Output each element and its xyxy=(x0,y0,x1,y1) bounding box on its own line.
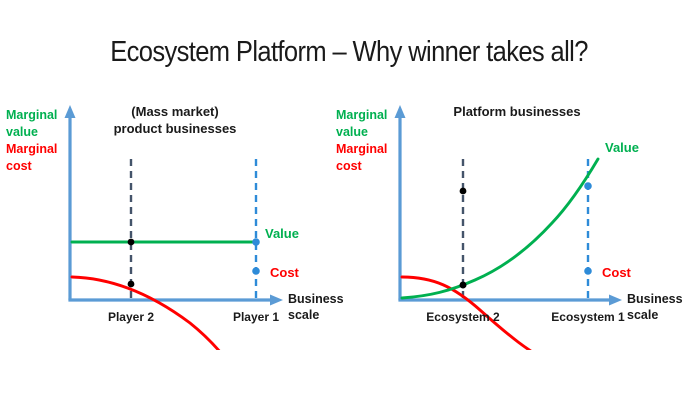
x-tick-player-2: Player 2 xyxy=(81,310,181,324)
x-axis-title-line2-right: scale xyxy=(627,307,683,323)
series-value-curve-right xyxy=(402,159,598,298)
x-axis-arrow-icon-right xyxy=(609,295,622,306)
series-label-value: Value xyxy=(265,226,299,241)
x-tick-ecosystem-2: Ecosystem 2 xyxy=(413,310,513,324)
axis-group-right xyxy=(395,105,623,306)
series-label-cost: Cost xyxy=(270,265,299,280)
axis-group xyxy=(65,105,284,306)
x-axis-title-right: Business scale xyxy=(627,291,683,323)
y-axis-arrow-icon xyxy=(65,105,76,118)
marker-value-player-2 xyxy=(128,239,135,246)
series-label-value-right: Value xyxy=(605,140,639,155)
slide-canvas: Ecosystem Platform – Why winner takes al… xyxy=(0,0,698,400)
x-axis-arrow-icon xyxy=(270,295,283,306)
marker-cost-ecosystem-2 xyxy=(460,282,467,289)
page-title: Ecosystem Platform – Why winner takes al… xyxy=(42,36,656,69)
marker-cost-player-1 xyxy=(252,267,260,275)
series-label-cost-right: Cost xyxy=(602,265,631,280)
chart-panel-platform: Marginal value Marginal cost Platform bu… xyxy=(330,95,679,350)
y-axis-arrow-icon-right xyxy=(395,105,406,118)
x-tick-ecosystem-1: Ecosystem 1 xyxy=(538,310,638,324)
chart-panel-mass-market: Marginal value Marginal cost (Mass marke… xyxy=(0,95,349,350)
marker-cost-ecosystem-1 xyxy=(584,267,592,275)
marker-value-ecosystem-1 xyxy=(584,182,592,190)
x-axis-title-line1-right: Business xyxy=(627,291,683,307)
marker-value-player-1 xyxy=(252,238,260,246)
marker-cost-player-2 xyxy=(128,281,135,288)
